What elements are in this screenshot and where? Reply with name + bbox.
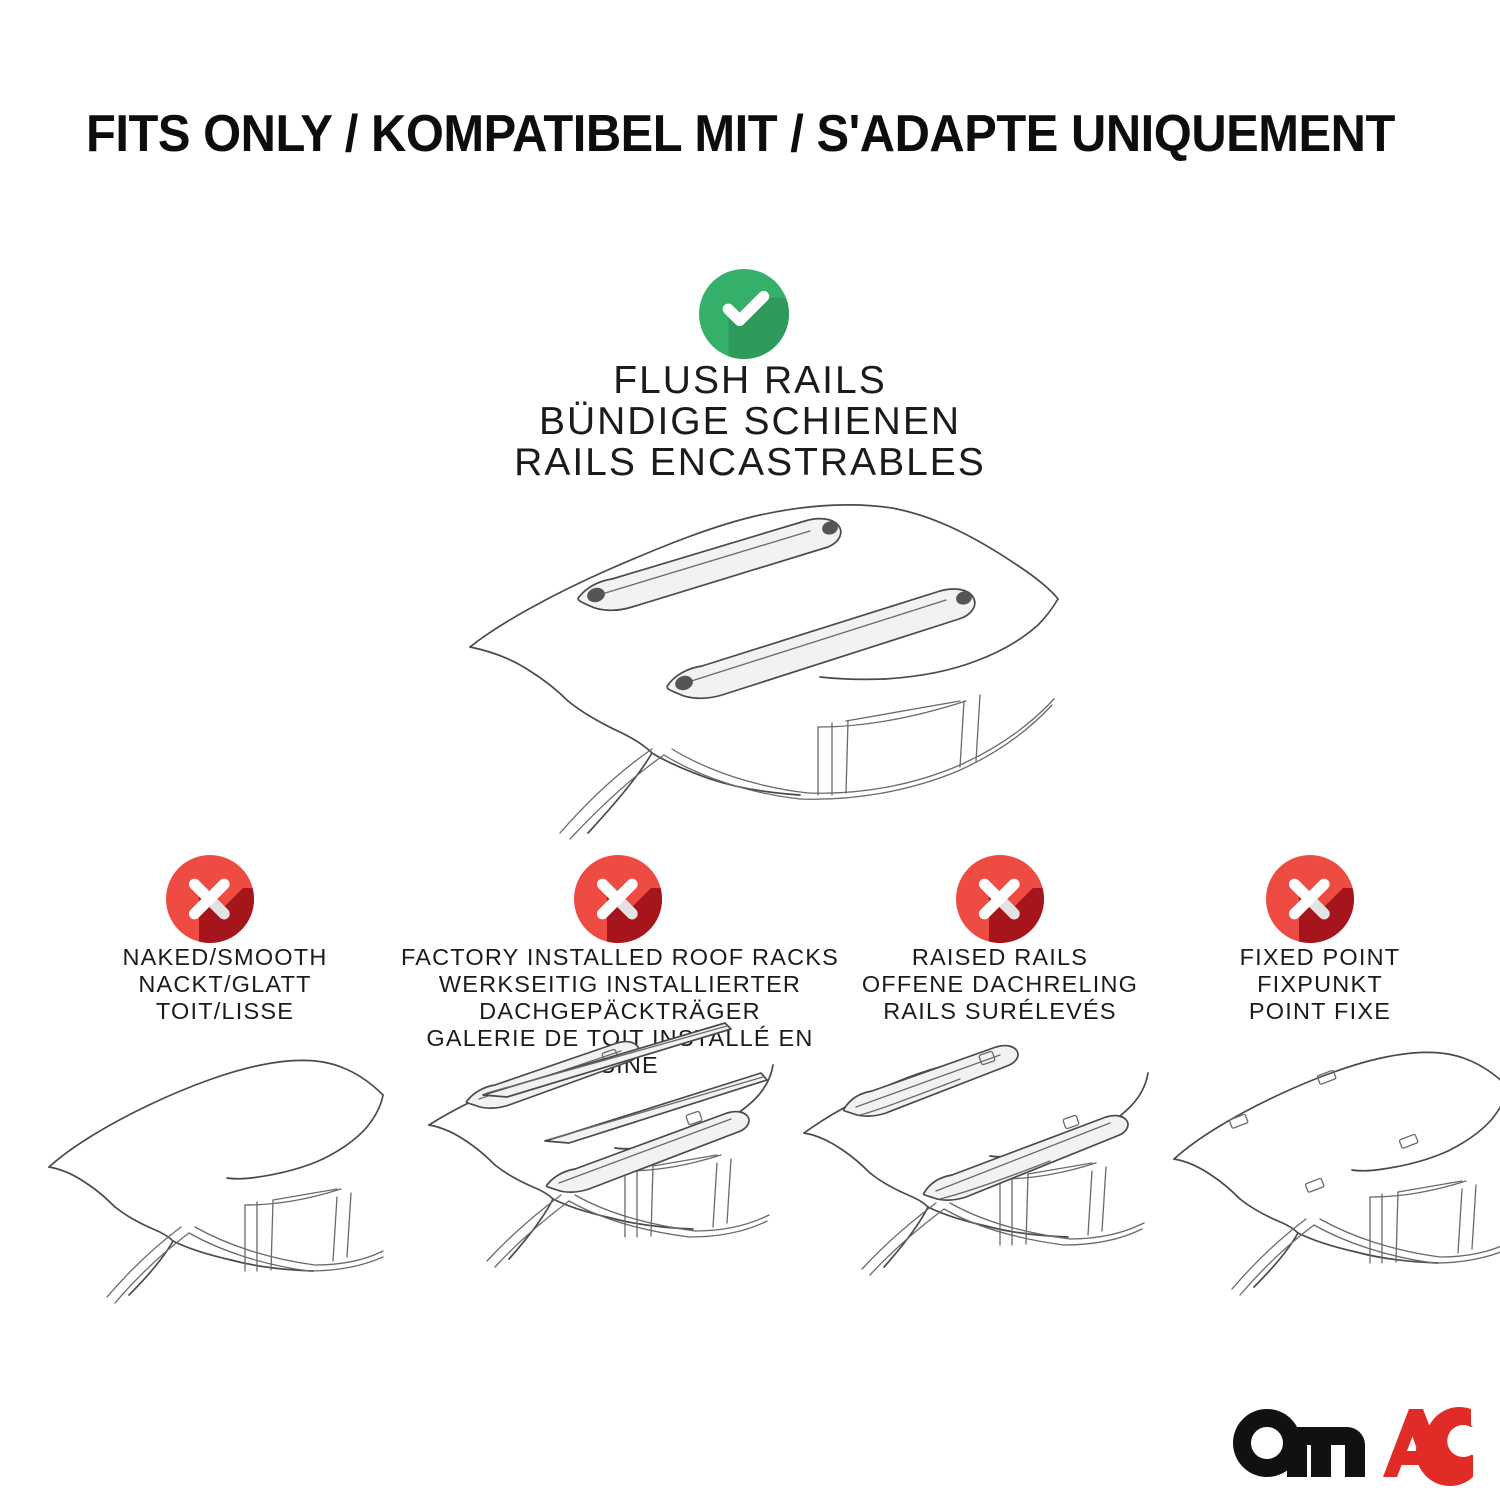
- compatible-label-line-en: FLUSH RAILS: [250, 360, 1250, 401]
- label-line-de: NACKT/GLATT: [45, 971, 405, 998]
- compatible-label-line-fr: RAILS ENCASTRABLES: [250, 442, 1250, 483]
- page-title: FITS ONLY / KOMPATIBEL MIT / S'ADAPTE UN…: [86, 106, 1346, 162]
- car-roof-bare-illustration: [45, 1055, 385, 1290]
- incompatible-label-fixed-point: FIXED POINT FIXPUNKT POINT FIXE: [1160, 944, 1480, 1025]
- x-circle-icon: [165, 854, 255, 944]
- label-line-de: OFFENE DACHRELING: [820, 971, 1180, 998]
- x-circle-icon: [955, 854, 1045, 944]
- x-circle-icon: [573, 854, 663, 944]
- label-line-en: FACTORY INSTALLED ROOF RACKS: [390, 944, 850, 971]
- compatible-label: FLUSH RAILS BÜNDIGE SCHIENEN RAILS ENCAS…: [250, 360, 1250, 483]
- car-roof-flush-rails-illustration: [460, 495, 1060, 795]
- car-roof-rails-with-crossbars-illustration: [425, 1055, 775, 1290]
- car-roof-fixed-point-illustration: [1170, 1055, 1500, 1290]
- label-line-de: FIXPUNKT: [1160, 971, 1480, 998]
- car-roof-raised-rails-illustration: [800, 1055, 1150, 1290]
- label-line-en: RAISED RAILS: [820, 944, 1180, 971]
- label-line-en: NAKED/SMOOTH: [45, 944, 405, 971]
- label-line-fr: RAILS SURÉLEVÉS: [820, 998, 1180, 1025]
- x-circle-icon: [1265, 854, 1355, 944]
- label-line-en: FIXED POINT: [1160, 944, 1480, 971]
- compatibility-infographic: FITS ONLY / KOMPATIBEL MIT / S'ADAPTE UN…: [0, 0, 1500, 1500]
- label-line-fr: TOIT/LISSE: [45, 998, 405, 1025]
- incompatible-label-naked-smooth: NAKED/SMOOTH NACKT/GLATT TOIT/LISSE: [45, 944, 405, 1025]
- check-circle-icon: [698, 268, 790, 360]
- compatible-label-line-de: BÜNDIGE SCHIENEN: [250, 401, 1250, 442]
- label-line-de-2: DACHGEPÄCKTRÄGER: [390, 998, 850, 1025]
- label-line-de-1: WERKSEITIG INSTALLIERTER: [390, 971, 850, 998]
- omac-logo: [1233, 1405, 1473, 1477]
- incompatible-label-raised-rails: RAISED RAILS OFFENE DACHRELING RAILS SUR…: [820, 944, 1180, 1025]
- label-line-fr: POINT FIXE: [1160, 998, 1480, 1025]
